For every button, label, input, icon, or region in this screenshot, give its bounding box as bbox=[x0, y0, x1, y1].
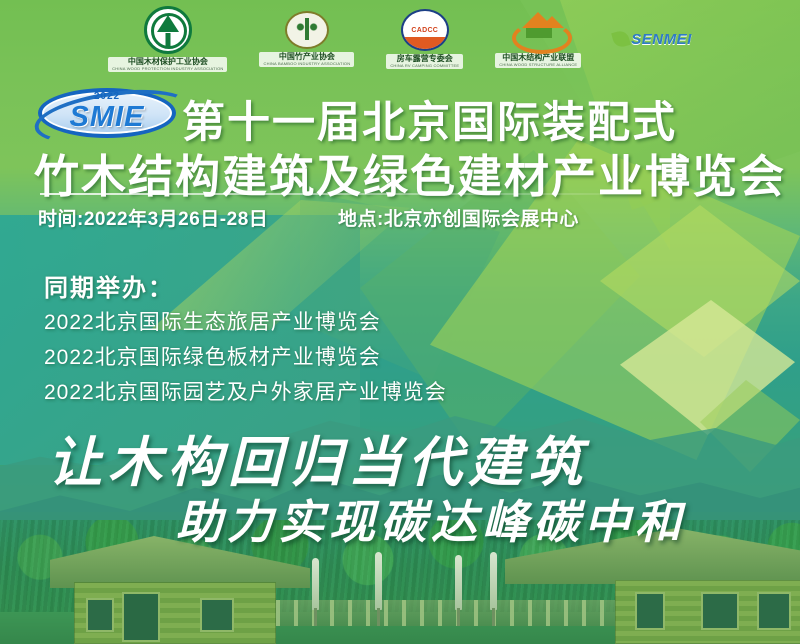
logo-caption: 房车露营专委会 CHINA RV CAMPING COMMITTEE bbox=[386, 54, 463, 69]
cadcc-roundel-icon: CADCC bbox=[401, 9, 449, 51]
logo-house-roof-small bbox=[540, 16, 564, 28]
cabin-window bbox=[701, 592, 739, 630]
logo-ring bbox=[151, 13, 187, 49]
house-arc-icon bbox=[510, 10, 566, 50]
partner-logo-strip: 中国木材保护工业协会 CHINA WOOD PROTECTION INDUSTR… bbox=[0, 0, 800, 78]
logo-caption: 中国木材保护工业协会 CHINA WOOD PROTECTION INDUSTR… bbox=[108, 57, 227, 72]
logo-china-wood-protection-association[interactable]: 中国木材保护工业协会 CHINA WOOD PROTECTION INDUSTR… bbox=[108, 6, 227, 72]
logo-band bbox=[403, 37, 447, 49]
event-date: 时间:2022年3月26日-28日 bbox=[38, 204, 268, 231]
cabin-window bbox=[757, 592, 791, 630]
logo-senmei[interactable]: SENMEI bbox=[613, 31, 692, 48]
smie-badge[interactable]: 2022 SMIE bbox=[38, 88, 176, 138]
patio-umbrella bbox=[312, 558, 319, 610]
logo-cwsa[interactable]: 中国木结构产业联盟 CHINA WOOD STRUCTURE ALLIANCE bbox=[495, 10, 581, 68]
bamboo-seal-icon bbox=[285, 11, 329, 49]
badge-name: SMIE bbox=[70, 101, 145, 134]
leaf-icon bbox=[611, 29, 631, 49]
patio-umbrella bbox=[490, 552, 497, 610]
patio-umbrella bbox=[375, 552, 382, 610]
title-divider bbox=[40, 193, 640, 195]
logo-caption: 中国竹产业协会 CHINA BAMBOO INDUSTRY ASSOCIATIO… bbox=[259, 52, 354, 67]
concurrent-event-item: 2022北京国际生态旅居产业博览会 bbox=[44, 306, 381, 336]
leaf-wordmark-icon: SENMEI bbox=[613, 31, 692, 48]
cabin-door bbox=[122, 592, 160, 642]
logo-caption: 中国木结构产业联盟 CHINA WOOD STRUCTURE ALLIANCE bbox=[495, 53, 581, 68]
slogan-line-2: 助力实现碳达峰碳中和 bbox=[176, 486, 686, 552]
logo-abbr: CADCC bbox=[411, 27, 438, 34]
concurrent-events-heading: 同期举办： bbox=[44, 268, 174, 303]
logo-bamboo-association[interactable]: 中国竹产业协会 CHINA BAMBOO INDUSTRY ASSOCIATIO… bbox=[259, 11, 354, 67]
concurrent-event-item: 2022北京国际绿色板材产业博览会 bbox=[44, 341, 381, 371]
poster-title-line-2: 竹木结构建筑及绿色建材产业博览会 bbox=[34, 140, 786, 205]
exhibition-poster: 中国木材保护工业协会 CHINA WOOD PROTECTION INDUSTR… bbox=[0, 0, 800, 644]
event-venue: 地点:北京亦创国际会展中心 bbox=[338, 204, 579, 231]
concurrent-event-item: 2022北京国际园艺及户外家居产业博览会 bbox=[44, 376, 447, 406]
logo-abbr: SENMEI bbox=[631, 31, 692, 48]
cabin-window bbox=[200, 598, 234, 632]
cabin-window bbox=[635, 592, 665, 630]
logo-cadcc[interactable]: CADCC 房车露营专委会 CHINA RV CAMPING COMMITTEE bbox=[386, 9, 463, 69]
pine-tree-in-circle-icon bbox=[144, 6, 192, 54]
logo-house-body bbox=[526, 28, 552, 38]
cabin-window bbox=[86, 598, 114, 632]
patio-umbrella bbox=[455, 555, 462, 610]
